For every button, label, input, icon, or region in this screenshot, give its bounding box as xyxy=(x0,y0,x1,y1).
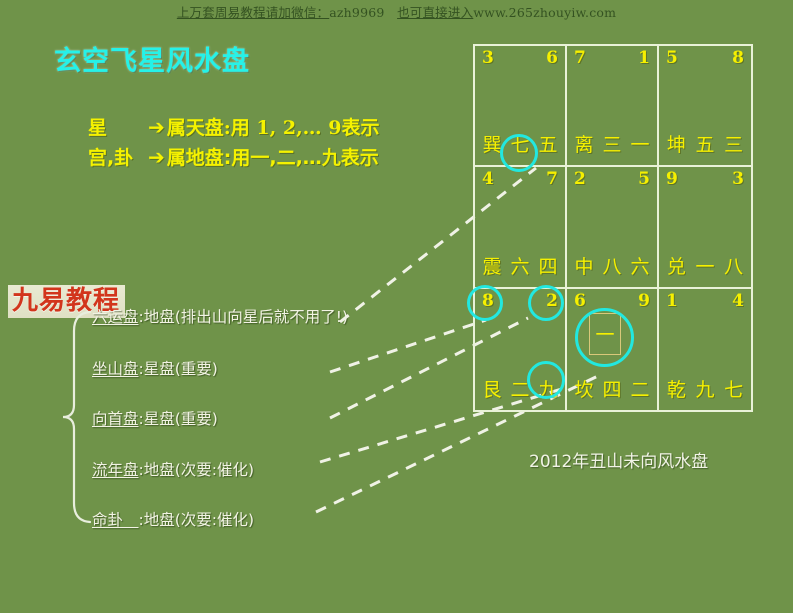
banner-text-2: 也可直接进入 xyxy=(397,5,473,20)
base-number-2: 六 xyxy=(630,252,649,279)
mountain-star: 4 xyxy=(482,169,494,189)
list-item-desc-2: :星盘(重要) xyxy=(139,410,218,428)
water-star: 6 xyxy=(546,48,558,68)
mountain-star: 7 xyxy=(574,48,586,68)
grid-cell-top-left[interactable]: 3 6 巽 七 五 xyxy=(475,46,567,167)
base-row: 离 三 一 xyxy=(567,130,657,157)
star-pair: 9 3 xyxy=(659,169,751,189)
base-number-2: 九 xyxy=(538,375,557,402)
mountain-star: 5 xyxy=(666,48,678,68)
base-row: 中 八 六 xyxy=(567,252,657,279)
base-number-1: 二 xyxy=(510,375,529,402)
palace-name: 离 xyxy=(574,130,593,157)
flying-star-grid: 3 6 巽 七 五 7 1 离 三 一 5 8 xyxy=(473,44,753,412)
water-star: 9 xyxy=(638,291,650,311)
list-item-label-2: 向首盘 xyxy=(92,410,139,428)
palace-name: 中 xyxy=(574,252,593,279)
base-number-2: 一 xyxy=(630,130,649,157)
palace-name: 乾 xyxy=(667,375,686,402)
banner-text-1: 上万套周易教程请加微信： xyxy=(177,5,329,20)
list-item-label-3: 流年盘 xyxy=(92,461,139,479)
base-number-2: 七 xyxy=(724,375,743,402)
curly-brace-icon xyxy=(60,309,96,524)
base-number-2: 三 xyxy=(724,130,743,157)
mountain-star: 6 xyxy=(574,291,586,311)
water-star: 8 xyxy=(732,48,744,68)
mountain-star: 9 xyxy=(666,169,678,189)
base-number-1: 七 xyxy=(510,130,529,157)
base-number-2: 二 xyxy=(630,375,649,402)
water-star: 4 xyxy=(732,291,744,311)
mountain-star: 8 xyxy=(482,291,494,311)
grid-cell-bottom-center[interactable]: 6 9 坎 四 二 一 xyxy=(567,289,659,410)
base-number-2: 八 xyxy=(724,252,743,279)
list-item-desc-0: :地盘(排出山向星后就不用了!) xyxy=(139,308,349,326)
base-row: 震 六 四 xyxy=(475,252,565,279)
plate-type-list: 六运盘:地盘(排出山向星后就不用了!) 坐山盘:星盘(重要) 向首盘:星盘(重要… xyxy=(78,305,408,530)
legend-value-palace: 属地盘:用一,二,…九表示 xyxy=(167,147,379,169)
base-number-2: 五 xyxy=(538,130,557,157)
palace-name: 坤 xyxy=(667,130,686,157)
base-number-1: 九 xyxy=(695,375,714,402)
water-star: 1 xyxy=(638,48,650,68)
base-row: 坎 四 二 xyxy=(567,375,657,402)
note-box: 一 xyxy=(589,313,621,355)
grid-cell-middle-left[interactable]: 4 7 震 六 四 xyxy=(475,167,567,288)
mountain-star: 1 xyxy=(666,291,678,311)
chart-caption: 2012年丑山未向风水盘 xyxy=(529,447,708,472)
palace-name: 巽 xyxy=(482,130,501,157)
banner-website: www.265zhouyiw.com xyxy=(473,5,616,20)
base-row: 乾 九 七 xyxy=(659,375,751,402)
legend-value-star: 属天盘:用 1, 2,… 9表示 xyxy=(167,117,380,139)
star-pair: 5 8 xyxy=(659,48,751,68)
base-row: 坤 五 三 xyxy=(659,130,751,157)
water-star: 7 xyxy=(546,169,558,189)
list-item: 六运盘:地盘(排出山向星后就不用了!) xyxy=(92,305,348,327)
base-number-1: 八 xyxy=(602,252,621,279)
list-item: 向首盘:星盘(重要) xyxy=(92,407,218,429)
grid-cell-bottom-right[interactable]: 1 4 乾 九 七 xyxy=(659,289,751,410)
base-number-1: 六 xyxy=(510,252,529,279)
slide-root: 上万套周易教程请加微信：azh9969 也可直接进入www.265zhouyiw… xyxy=(0,0,793,613)
legend-block: 星➔属天盘:用 1, 2,… 9表示 宫,卦➔属地盘:用一,二,…九表示 xyxy=(88,113,380,173)
legend-row-star: 星➔属天盘:用 1, 2,… 9表示 xyxy=(88,113,380,143)
mountain-star: 2 xyxy=(574,169,586,189)
base-row: 巽 七 五 xyxy=(475,130,565,157)
base-row: 艮 二 九 xyxy=(475,375,565,402)
base-number-2: 四 xyxy=(538,252,557,279)
base-number-1: 一 xyxy=(695,252,714,279)
legend-key-star: 星 xyxy=(88,114,146,143)
star-pair: 8 2 xyxy=(475,291,565,311)
star-pair: 3 6 xyxy=(475,48,565,68)
arrow-right-icon: ➔ xyxy=(146,115,167,139)
grid-cell-middle-right[interactable]: 9 3 兑 一 八 xyxy=(659,167,751,288)
legend-key-palace: 宫,卦 xyxy=(88,144,146,173)
base-number-1: 三 xyxy=(602,130,621,157)
list-item: 坐山盘:星盘(重要) xyxy=(92,357,218,379)
base-number-1: 四 xyxy=(602,375,621,402)
star-pair: 6 9 xyxy=(567,291,657,311)
grid-cell-bottom-left[interactable]: 8 2 艮 二 九 xyxy=(475,289,567,410)
list-item-label-1: 坐山盘 xyxy=(92,360,139,378)
base-number-1: 五 xyxy=(695,130,714,157)
star-pair: 1 4 xyxy=(659,291,751,311)
list-item-label-4: 命卦 xyxy=(92,511,139,529)
base-row: 兑 一 八 xyxy=(659,252,751,279)
list-item-desc-4: :地盘(次要:催化) xyxy=(139,511,255,529)
water-star: 3 xyxy=(732,169,744,189)
list-item-label-0: 六运盘 xyxy=(92,308,139,326)
grid-cell-middle-center[interactable]: 2 5 中 八 六 xyxy=(567,167,659,288)
list-item-desc-3: :地盘(次要:催化) xyxy=(139,461,255,479)
palace-name: 震 xyxy=(482,252,501,279)
grid-cell-top-center[interactable]: 7 1 离 三 一 xyxy=(567,46,659,167)
banner-wechat-id: azh9969 xyxy=(329,5,384,20)
palace-name: 兑 xyxy=(667,252,686,279)
palace-name: 艮 xyxy=(482,375,501,402)
list-item-desc-1: :星盘(重要) xyxy=(139,360,218,378)
list-item: 流年盘:地盘(次要:催化) xyxy=(92,458,254,480)
water-star: 5 xyxy=(638,169,650,189)
grid-cell-top-right[interactable]: 5 8 坤 五 三 xyxy=(659,46,751,167)
water-star: 2 xyxy=(546,291,558,311)
star-pair: 7 1 xyxy=(567,48,657,68)
palace-name: 坎 xyxy=(574,375,593,402)
page-title: 玄空飞星风水盘 xyxy=(54,39,250,78)
promo-banner: 上万套周易教程请加微信：azh9969 也可直接进入www.265zhouyiw… xyxy=(0,2,793,21)
legend-row-palace: 宫,卦➔属地盘:用一,二,…九表示 xyxy=(88,143,380,173)
arrow-right-icon-2: ➔ xyxy=(146,145,167,169)
list-item: 命卦 :地盘(次要:催化) xyxy=(92,508,254,530)
mountain-star: 3 xyxy=(482,48,494,68)
star-pair: 2 5 xyxy=(567,169,657,189)
star-pair: 4 7 xyxy=(475,169,565,189)
